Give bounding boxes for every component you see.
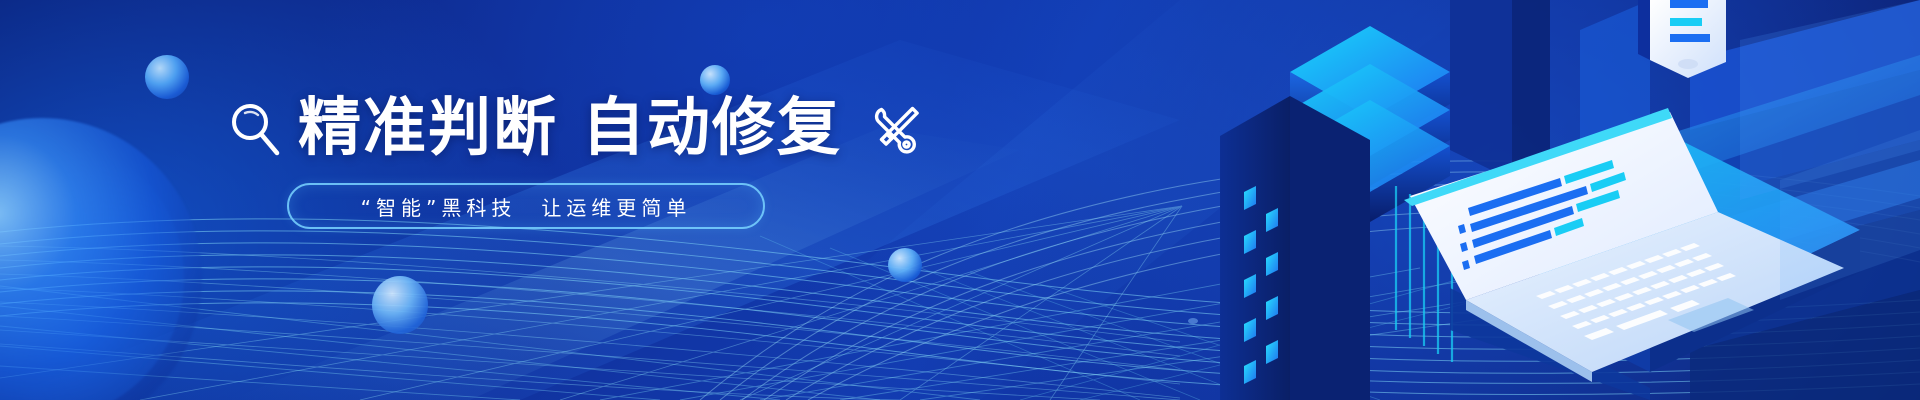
promo-banner: 精准判断 自动修复 “智能”黑科技 让运维更简单 [0,0,1920,400]
isometric-illustration [1220,0,1920,400]
decor-orb-top-left [145,55,189,99]
decor-orb-dot [1188,318,1198,324]
decor-orb-mid-right [888,248,922,282]
headline-text: 精准判断 自动修复 [298,96,842,159]
headline-group: 精准判断 自动修复 [228,96,924,159]
glowing-sphere-left [0,118,202,400]
smartphone-document [1638,0,1726,78]
subtitle-pill: “智能”黑科技 让运维更简单 [287,183,765,229]
magnifier-icon [228,100,280,156]
decor-orb-bottom-center [372,276,428,334]
wrench-screwdriver-icon [868,100,924,156]
subtitle-text: “智能”黑科技 让运维更简单 [361,192,692,221]
